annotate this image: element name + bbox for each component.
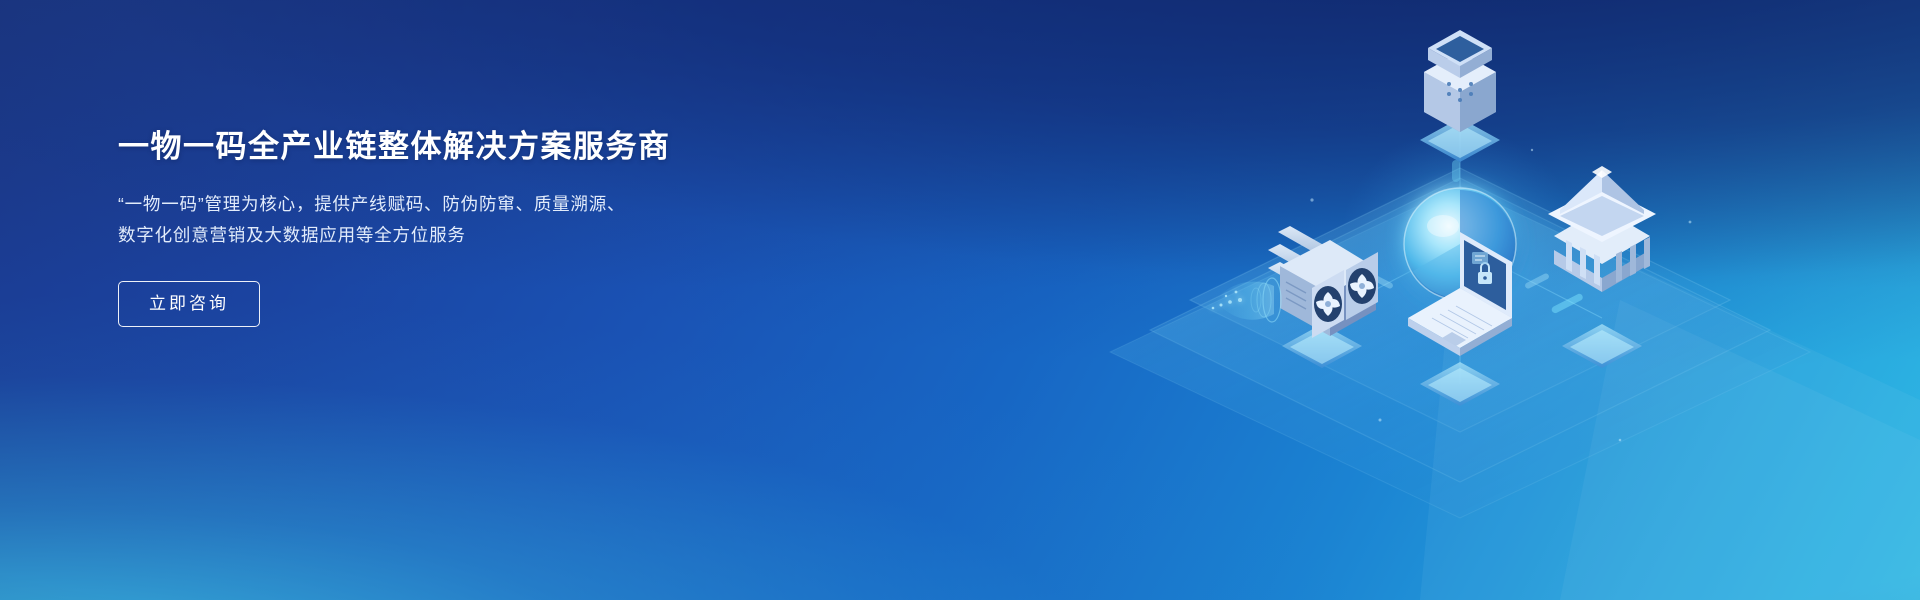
- hero-banner: 一物一码全产业链整体解决方案服务商 “一物一码”管理为核心，提供产线赋码、防伪防…: [0, 0, 1920, 600]
- subtitle-line-2: 数字化创意营销及大数据应用等全方位服务: [118, 220, 878, 251]
- pos-terminal-node: [1420, 30, 1500, 162]
- subtitle-line-1: “一物一码”管理为核心，提供产线赋码、防伪防窜、质量溯源、: [118, 189, 878, 220]
- consult-now-button[interactable]: 立即咨询: [118, 281, 260, 327]
- hero-illustration: [860, 0, 1920, 600]
- page-title: 一物一码全产业链整体解决方案服务商: [118, 128, 878, 167]
- hero-copy-block: 一物一码全产业链整体解决方案服务商 “一物一码”管理为核心，提供产线赋码、防伪防…: [118, 128, 878, 327]
- document-icon: [1472, 252, 1488, 264]
